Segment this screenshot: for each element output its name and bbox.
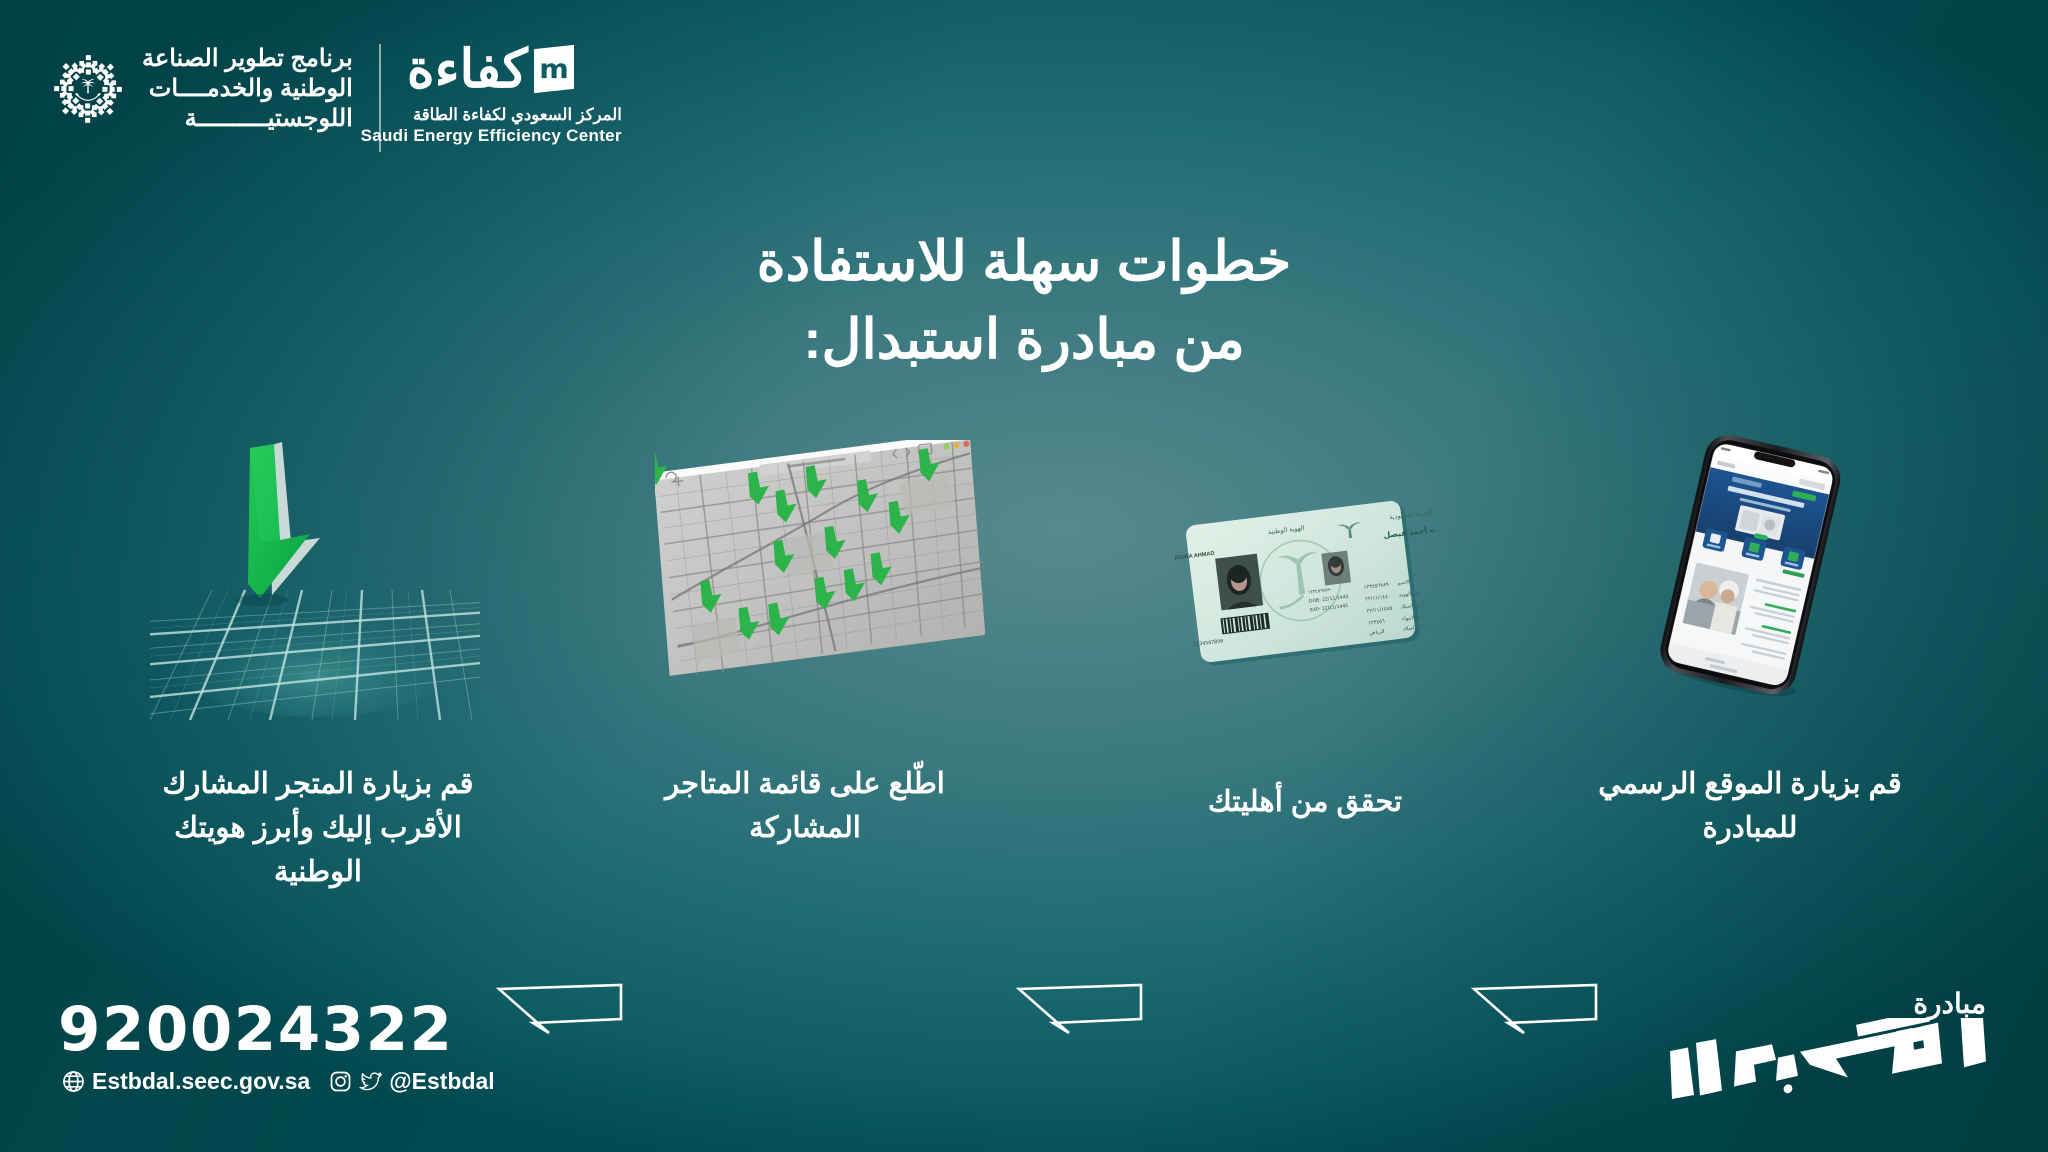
connector-arrow-2 <box>1015 975 1145 1035</box>
estbdal-brand-lockup: مبادرة <box>1660 987 1990 1110</box>
brand-prefix: مبادرة <box>1660 987 1990 1020</box>
social-handle[interactable]: @Estbdal <box>389 1068 495 1095</box>
logo-row: برنامج تطوير الصناعة الوطنية والخدمــــا… <box>52 40 622 152</box>
estbdal-arrow-wordmark-icon <box>1660 1018 1990 1110</box>
green-3d-arrow-on-map-grid-icon <box>150 430 480 720</box>
twitter-bird-icon[interactable] <box>359 1070 382 1093</box>
steps-illustration-strip: المملكة العربية السعودية الهوية الوطنية … <box>0 430 2048 760</box>
title-line-1: خطوات سهلة للاستفادة <box>0 222 2048 300</box>
seec-name-en: Saudi Energy Efficiency Center <box>407 126 622 146</box>
instagram-icon[interactable] <box>329 1070 352 1093</box>
seec-wordmark: كفاءة m <box>407 40 622 98</box>
header-logos: برنامج تطوير الصناعة الوطنية والخدمــــا… <box>0 0 2048 190</box>
seec-name-ar: المركز السعودي لكفاءة الطاقة <box>407 105 622 125</box>
browser-window-map-with-green-pins-icon <box>655 440 985 690</box>
step-caption-view-store-list: اطّلع على قائمة المتاجر المشاركة <box>640 762 970 850</box>
infographic-canvas: برنامج تطوير الصناعة الوطنية والخدمــــا… <box>0 0 2048 1152</box>
step-caption-visit-store: قم بزيارة المتجر المشارك الأقرب إليك وأب… <box>138 762 498 894</box>
step-caption-check-eligibility: تحقق من أهليتك <box>1150 780 1460 824</box>
step-caption-visit-website: قم بزيارة الموقع الرسمي للمبادرة <box>1590 762 1910 850</box>
seec-logo: كفاءة m المركز السعودي لكفاءة الطاقة Sau… <box>407 40 622 146</box>
title-line-2: من مبادرة استبدال: <box>0 300 2048 378</box>
seec-badge-glyph: m <box>539 55 569 82</box>
connector-arrow-1 <box>495 975 625 1035</box>
connector-arrow-3 <box>1470 975 1600 1035</box>
nidlp-line-3: اللوجستيــــــــــة <box>142 104 353 134</box>
nidlp-name: برنامج تطوير الصناعة الوطنية والخدمــــا… <box>142 44 353 135</box>
globe-icon <box>62 1070 85 1093</box>
nidlp-line-1: برنامج تطوير الصناعة <box>142 44 353 74</box>
saudi-palm-swords-emblem-icon <box>52 40 124 138</box>
website-url[interactable]: Estbdal.seec.gov.sa <box>92 1068 310 1095</box>
seec-wordmark-text: كفاءة <box>407 43 528 96</box>
page-title: خطوات سهلة للاستفادة من مبادرة استبدال: <box>0 222 2048 378</box>
contact-phone-number[interactable]: 920024322 <box>58 994 454 1065</box>
contact-row: Estbdal.seec.gov.sa @Estbdal <box>62 1068 495 1095</box>
nidlp-line-2: الوطنية والخدمــــات <box>142 74 353 104</box>
nidlp-logo: برنامج تطوير الصناعة الوطنية والخدمــــا… <box>52 40 353 138</box>
saudi-national-id-card-icon: المملكة العربية السعودية الهوية الوطنية … <box>1175 490 1435 680</box>
smartphone-showing-initiative-website-icon <box>1655 430 1875 700</box>
seec-badge-icon: m <box>534 45 574 93</box>
